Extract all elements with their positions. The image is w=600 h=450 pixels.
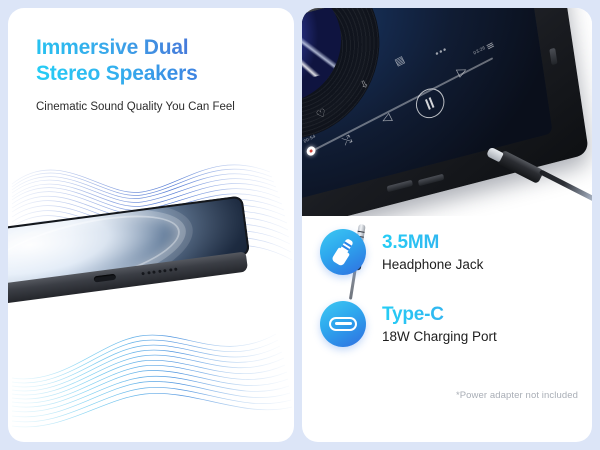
tablet-music-player-photo: 00:54 03:26 ••• ♡ ⇩ ▤ ⤭ ◁ ▷ ≡ xyxy=(302,8,592,216)
more-options-icon[interactable]: ••• xyxy=(434,44,449,59)
headline-line-2: Stereo Speakers xyxy=(36,61,276,87)
progress-knob[interactable] xyxy=(306,145,317,157)
volume-up-button[interactable] xyxy=(387,180,413,192)
power-button[interactable] xyxy=(549,48,557,65)
feature-list: 3.5MM Headphone Jack Type-C 18W Charging… xyxy=(302,216,592,360)
feature-text: 3.5MM Headphone Jack xyxy=(382,231,592,274)
volume-down-button[interactable] xyxy=(418,174,444,186)
total-time: 03:26 xyxy=(473,45,486,55)
album-artwork xyxy=(302,8,349,115)
pause-button[interactable] xyxy=(412,83,449,123)
cable-wire xyxy=(539,169,592,208)
feature-title: Type-C xyxy=(382,303,592,326)
headphone-jack-icon xyxy=(320,229,366,275)
feature-title: 3.5MM xyxy=(382,231,592,254)
feature-subtitle: 18W Charging Port xyxy=(382,327,592,346)
queue-icon[interactable]: ≡ xyxy=(485,40,497,53)
headline: Immersive Dual Stereo Speakers xyxy=(36,35,276,87)
shuffle-icon[interactable]: ⤭ xyxy=(341,133,354,147)
usb-c-glyph xyxy=(329,317,357,331)
feature-subtitle: Headphone Jack xyxy=(382,255,592,274)
soundwave-artwork xyxy=(8,128,294,438)
feature-text: Type-C 18W Charging Port xyxy=(382,303,592,346)
usb-type-c-icon xyxy=(320,301,366,347)
feature-row-type-c: Type-C 18W Charging Port xyxy=(302,288,592,360)
jack-glyph xyxy=(327,235,359,269)
usb-c-cable xyxy=(498,147,592,216)
usb-c-connector xyxy=(497,150,545,184)
right-feature-panel: 00:54 03:26 ••• ♡ ⇩ ▤ ⤭ ◁ ▷ ≡ xyxy=(302,8,592,442)
playlist-add-icon[interactable]: ▤ xyxy=(394,55,407,68)
feature-row-headphone-jack: 3.5MM Headphone Jack xyxy=(302,216,592,288)
left-feature-panel: Immersive Dual Stereo Speakers Cinematic… xyxy=(8,8,294,442)
previous-track-icon[interactable]: ◁ xyxy=(379,111,393,126)
headline-line-1: Immersive Dual xyxy=(36,35,276,61)
infographic-canvas: Immersive Dual Stereo Speakers Cinematic… xyxy=(0,0,600,450)
footnote-disclaimer: *Power adapter not included xyxy=(456,390,578,401)
subheadline: Cinematic Sound Quality You Can Feel xyxy=(36,99,268,115)
